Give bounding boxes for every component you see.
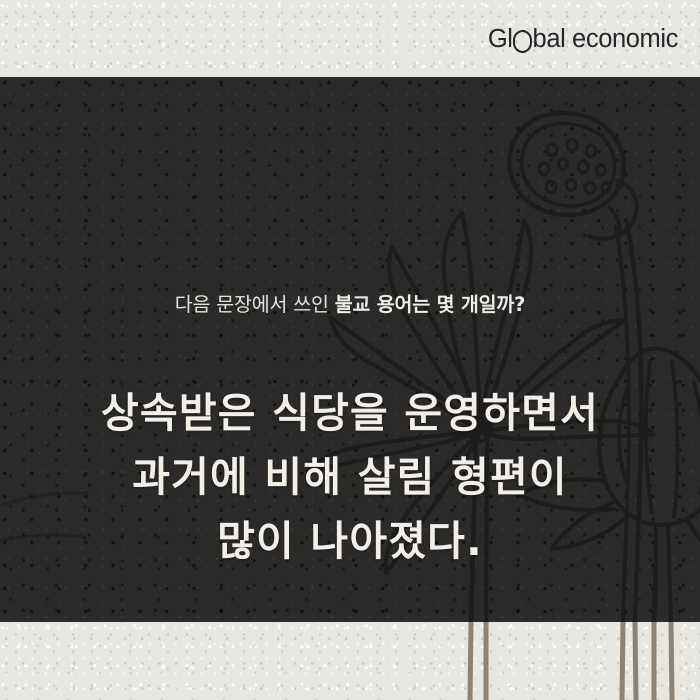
brand-logo: Glbal economic: [488, 24, 678, 56]
dark-panel: 다음 문장에서 쓰인 불교 용어는 몇 개일까? 상속받은 식당을 운영하면서 …: [0, 77, 700, 622]
logo-text-before: Gl: [488, 25, 513, 53]
lotus-artwork: [0, 77, 700, 622]
lotus-bud-icon: [520, 349, 700, 622]
brand-logo-text: Glbal economic: [488, 27, 678, 53]
stem-continuation-artwork: [0, 622, 700, 700]
bottom-paper-band: [0, 622, 700, 700]
logo-text-after: bal economic: [533, 25, 678, 53]
logo-open-o-icon: [513, 30, 532, 49]
social-card: Glbal economic: [0, 0, 700, 700]
